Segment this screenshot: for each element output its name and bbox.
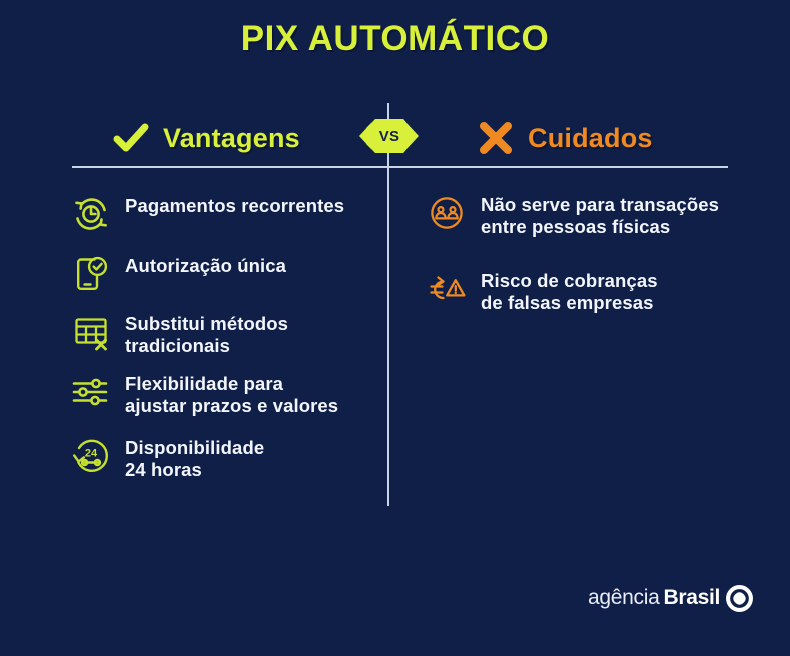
list-item-label: Não serve para transações entre pessoas … xyxy=(481,192,719,238)
versus-badge: VS xyxy=(358,117,420,155)
infographic-canvas: PIX AUTOMÁTICO Vantagens Cuidados VS xyxy=(0,0,790,656)
list-item: Não serve para transações entre pessoas … xyxy=(426,192,756,238)
x-mark-icon xyxy=(478,120,514,156)
list-item: Pagamentos recorrentes xyxy=(70,193,390,235)
twentyfour-hours-icon: 24 xyxy=(70,435,112,477)
recurring-clock-icon xyxy=(70,193,112,235)
spreadsheet-x-icon xyxy=(70,311,112,353)
column-header-label: Vantagens xyxy=(163,123,300,154)
versus-badge-label: VS xyxy=(358,117,420,155)
column-header-label: Cuidados xyxy=(528,123,653,154)
list-item-label: Flexibilidade para ajustar prazos e valo… xyxy=(125,371,338,417)
agencia-brasil-logo: agência Brasil xyxy=(588,584,753,612)
money-warning-icon xyxy=(426,268,468,310)
svg-text:24: 24 xyxy=(85,448,98,460)
page-title: PIX AUTOMÁTICO xyxy=(0,18,790,60)
vertical-divider xyxy=(387,103,389,506)
cautions-list: Não serve para transações entre pessoas … xyxy=(426,192,756,314)
horizontal-divider xyxy=(72,166,728,168)
list-item: Flexibilidade para ajustar prazos e valo… xyxy=(70,371,390,417)
sliders-icon xyxy=(70,371,112,413)
advantages-list: Pagamentos recorrentes Autorização única xyxy=(70,193,390,481)
column-header-vantagens: Vantagens xyxy=(113,115,300,161)
list-item-label: Risco de cobranças de falsas empresas xyxy=(481,268,658,314)
two-people-circle-icon xyxy=(426,192,468,234)
list-item-label: Pagamentos recorrentes xyxy=(125,193,344,217)
list-item: 24 Disponibilidade 24 horas xyxy=(70,435,390,481)
logo-word-brasil: Brasil xyxy=(663,586,720,610)
list-item-label: Substitui métodos tradicionais xyxy=(125,311,288,357)
list-item-label: Disponibilidade 24 horas xyxy=(125,435,264,481)
list-item: Autorização única xyxy=(70,253,390,295)
brasil-circle-mark-icon xyxy=(726,585,753,612)
phone-check-icon xyxy=(70,253,112,295)
logo-word-agencia: agência xyxy=(588,586,659,610)
check-mark-icon xyxy=(113,120,149,156)
list-item-label: Autorização única xyxy=(125,253,286,277)
column-header-cuidados: Cuidados xyxy=(478,115,653,161)
list-item: Substitui métodos tradicionais xyxy=(70,311,390,357)
list-item: Risco de cobranças de falsas empresas xyxy=(426,268,756,314)
